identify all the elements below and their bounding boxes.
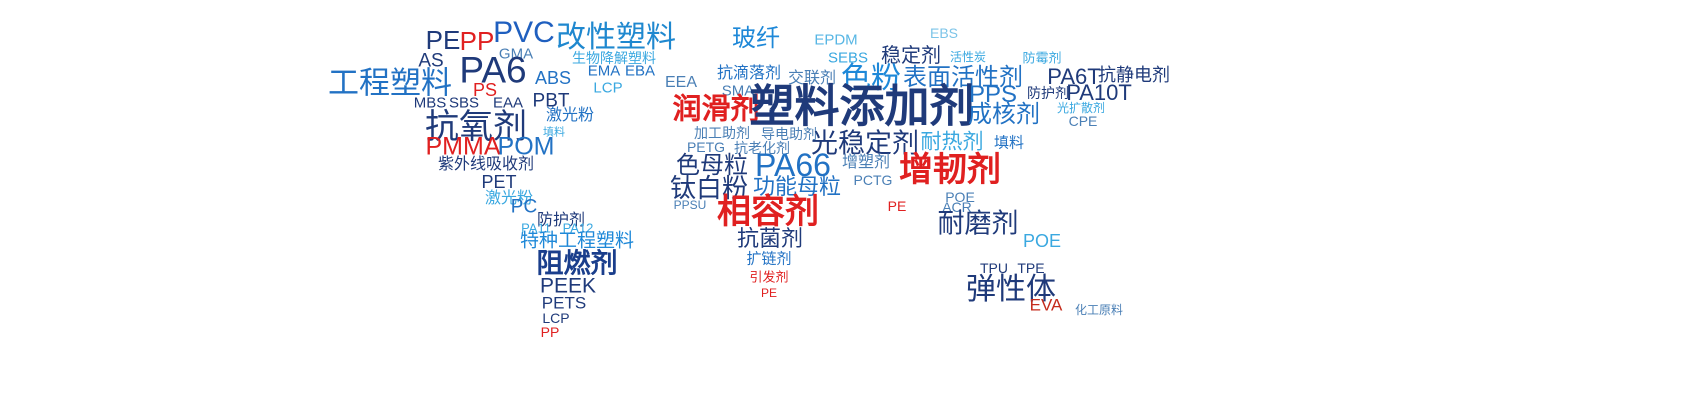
word-cloud-term[interactable]: 耐磨剂 bbox=[938, 211, 1019, 238]
word-cloud-term[interactable]: EBA bbox=[625, 64, 655, 79]
word-cloud-term[interactable]: ABS bbox=[535, 69, 571, 87]
word-cloud-term[interactable]: PP bbox=[541, 325, 560, 339]
word-cloud-term[interactable]: PC bbox=[511, 198, 537, 217]
word-cloud-term[interactable]: 导电助剂 bbox=[761, 127, 817, 141]
word-cloud-term[interactable]: 增塑剂 bbox=[842, 155, 890, 171]
word-cloud-term[interactable]: 填料 bbox=[994, 136, 1024, 151]
word-cloud-term[interactable]: LCP bbox=[542, 311, 569, 325]
word-cloud-term[interactable]: 防护剂 bbox=[1027, 86, 1069, 100]
word-cloud-term[interactable]: 抗菌剂 bbox=[737, 228, 803, 250]
word-cloud-term[interactable]: 润滑剂 bbox=[672, 96, 759, 125]
word-cloud-term[interactable]: 耐热剂 bbox=[921, 132, 984, 153]
word-cloud-term[interactable]: 引发剂 bbox=[749, 271, 788, 284]
word-cloud-term[interactable]: 改性塑料 bbox=[556, 23, 676, 53]
word-cloud-term[interactable]: PET bbox=[481, 173, 516, 191]
word-cloud-term[interactable]: 成核剂 bbox=[968, 103, 1040, 127]
word-cloud-term[interactable]: PE bbox=[761, 287, 777, 299]
word-cloud-term[interactable]: PETS bbox=[542, 295, 586, 312]
word-cloud-term[interactable]: 化工原料 bbox=[1075, 304, 1123, 316]
word-cloud-term[interactable]: 阻燃剂 bbox=[537, 251, 618, 278]
word-cloud-term[interactable]: PPSU bbox=[674, 199, 707, 211]
word-cloud-term[interactable]: 扩链剂 bbox=[746, 252, 791, 267]
word-cloud-term[interactable]: PE bbox=[888, 199, 907, 213]
word-cloud-term[interactable]: POE bbox=[1023, 232, 1061, 250]
word-cloud-term[interactable]: PCTG bbox=[854, 173, 893, 187]
word-cloud-canvas: PEPPPVCGMA改性塑料生物降解塑料玻纤EPDMEBSASPA6工程塑料AB… bbox=[0, 0, 1707, 400]
word-cloud-term[interactable]: CPE bbox=[1069, 114, 1098, 128]
word-cloud-term[interactable]: 塑料添加剂 bbox=[749, 84, 974, 129]
word-cloud-term[interactable]: 玻纤 bbox=[732, 27, 780, 51]
word-cloud-term[interactable]: PVC bbox=[493, 18, 555, 48]
word-cloud-term[interactable]: LCP bbox=[593, 81, 622, 96]
word-cloud-term[interactable]: 相容剂 bbox=[717, 195, 819, 229]
word-cloud-term[interactable]: 加工助剂 bbox=[694, 126, 750, 140]
word-cloud-term[interactable]: EMA bbox=[588, 64, 621, 79]
word-cloud-term[interactable]: 活性炭 bbox=[950, 51, 986, 63]
word-cloud-term[interactable]: PE bbox=[426, 27, 461, 53]
word-cloud-term[interactable]: 防霉剂 bbox=[1022, 52, 1061, 65]
word-cloud-term[interactable]: 增韧剂 bbox=[899, 153, 1001, 187]
word-cloud-term[interactable]: EBS bbox=[930, 26, 958, 40]
word-cloud-term[interactable]: PS bbox=[473, 81, 497, 99]
word-cloud-term[interactable]: EVA bbox=[1030, 297, 1063, 314]
word-cloud-term[interactable]: 激光粉 bbox=[546, 108, 594, 124]
word-cloud-term[interactable]: EEA bbox=[665, 75, 697, 91]
word-cloud-term[interactable]: EPDM bbox=[814, 33, 857, 48]
word-cloud-term[interactable]: 紫外线吸收剂 bbox=[438, 157, 534, 173]
